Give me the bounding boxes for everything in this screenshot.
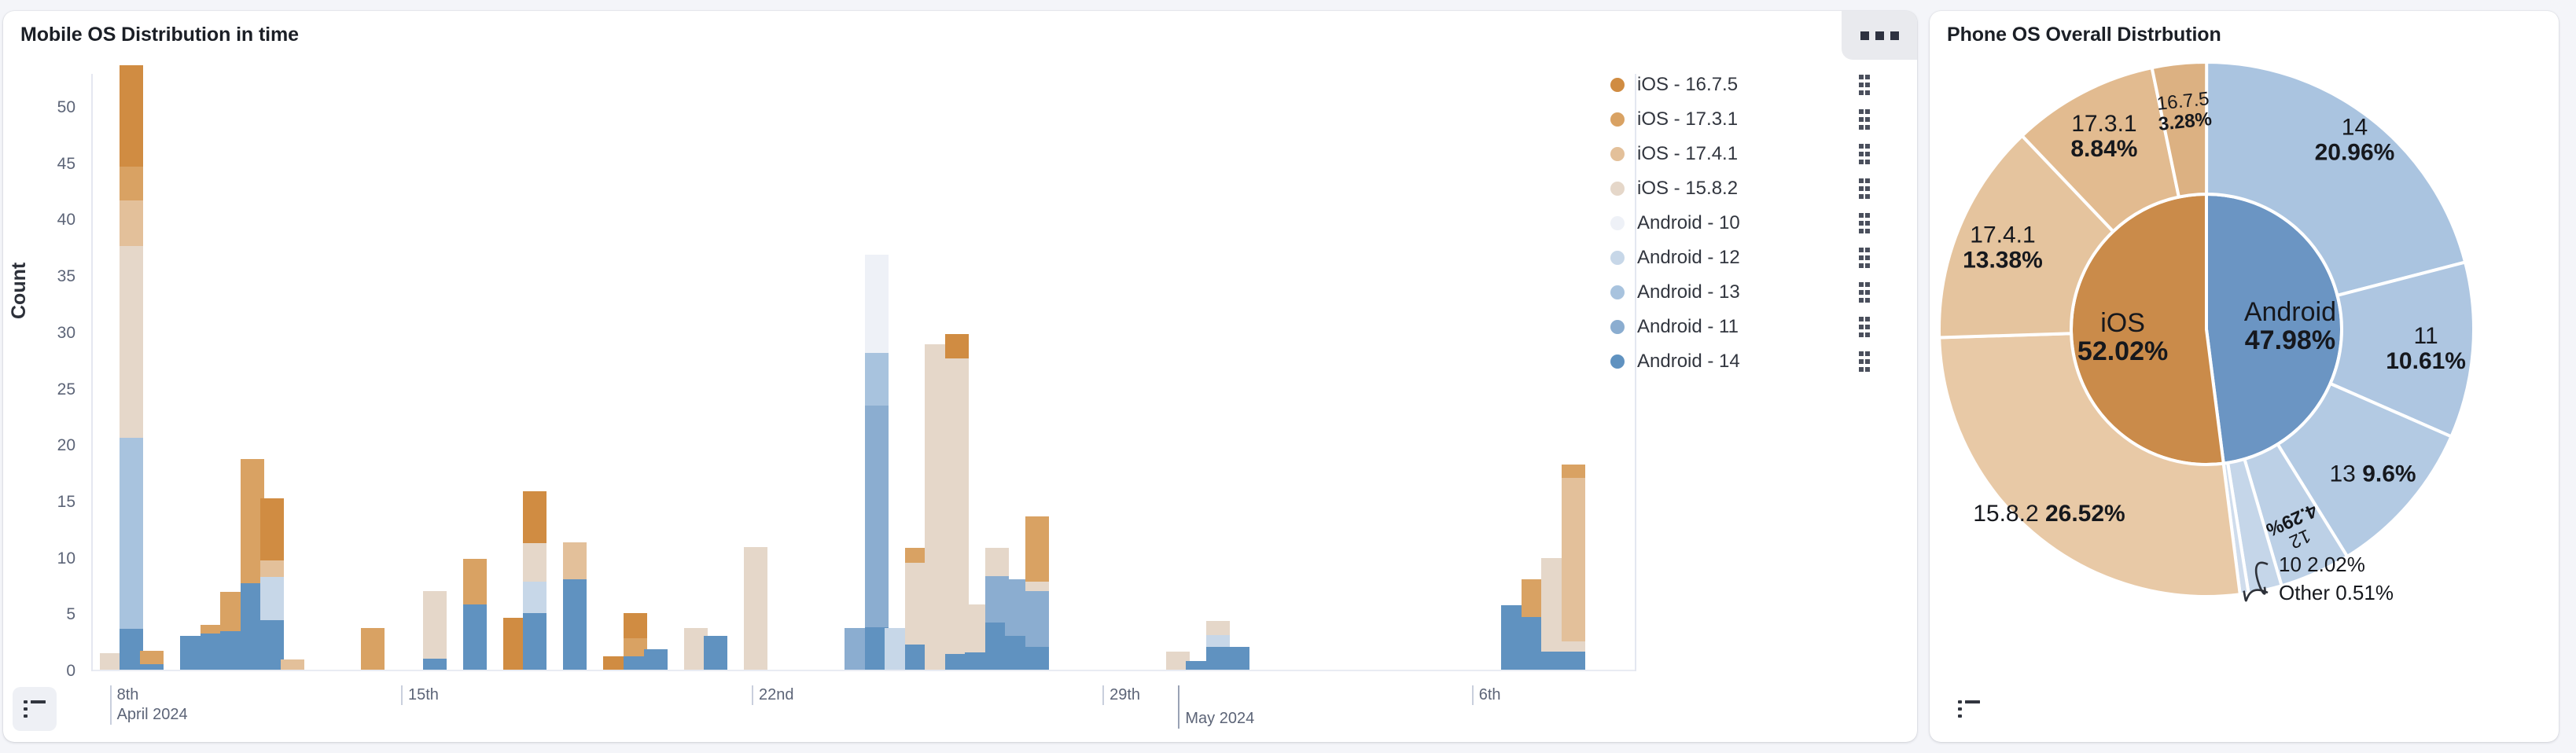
page-title: Mobile OS Distribution in time [20, 24, 299, 46]
legend-color-dot [1610, 285, 1625, 299]
bar-segment [1206, 621, 1230, 634]
x-axis-tick: 6th [1472, 685, 1501, 705]
drag-handle-icon[interactable] [1859, 175, 1870, 202]
plot-area [91, 74, 1636, 671]
y-axis-tick: 15 [27, 493, 75, 512]
y-axis-tick: 25 [27, 380, 75, 399]
bar-segment [120, 246, 143, 438]
bar-stack[interactable] [361, 628, 385, 670]
bar-segment [120, 438, 143, 630]
bar-stack[interactable] [463, 559, 487, 670]
drag-handle-icon[interactable] [1859, 244, 1870, 271]
sunburst-slice-label: 17.3.1 [2071, 111, 2136, 137]
legend-item-ios-17-3-1[interactable]: iOS - 17.3.1 [1610, 102, 1870, 137]
legend-color-dot [1610, 182, 1625, 196]
legend-color-dot [1610, 251, 1625, 265]
bar-segment [704, 636, 727, 670]
y-axis-tick: 50 [27, 98, 75, 117]
bar-stack[interactable] [865, 255, 889, 670]
bar-stack[interactable] [140, 651, 164, 670]
legend-list-icon[interactable] [13, 687, 57, 731]
panel-phone-os-overall: Phone OS Overall Distrbution Android47.9… [1930, 11, 2559, 742]
bar-stack[interactable] [523, 491, 546, 670]
legend-item-ios-17-4-1[interactable]: iOS - 17.4.1 [1610, 137, 1870, 171]
x-axis-tick: 29th [1102, 685, 1140, 705]
dashboard: Mobile OS Distribution in time Count 051… [0, 0, 2576, 753]
bar-segment [563, 542, 587, 579]
drag-handle-icon[interactable] [1859, 210, 1870, 237]
y-axis-tick: 30 [27, 324, 75, 343]
bar-segment [523, 543, 546, 582]
legend-color-dot [1610, 147, 1625, 161]
three-dots-icon[interactable] [1842, 11, 1917, 60]
x-axis-tick: May 2024 [1178, 685, 1254, 729]
bar-segment [260, 577, 284, 619]
x-axis-tick: 8thApril 2024 [110, 685, 188, 725]
bar-segment [463, 604, 487, 670]
y-axis-tick: 0 [27, 662, 75, 681]
legend-item-label: iOS - 15.8.2 [1637, 178, 1859, 200]
bar-segment [281, 659, 304, 670]
panel-mobile-os-distribution: Mobile OS Distribution in time Count 051… [3, 11, 1917, 742]
legend-item-ios-16-7-5[interactable]: iOS - 16.7.5 [1610, 68, 1870, 102]
legend-item-android-11[interactable]: Android - 11 [1610, 310, 1870, 344]
drag-handle-icon[interactable] [1859, 72, 1870, 98]
bar-stack[interactable] [563, 542, 587, 670]
legend-item-label: Android - 11 [1637, 316, 1859, 338]
legend-item-android-10[interactable]: Android - 10 [1610, 206, 1870, 241]
sunburst-slice-label: iOS [2100, 308, 2145, 338]
sunburst-slice-callout: 10 2.02% [2279, 553, 2365, 576]
bar-segment [945, 334, 969, 359]
y-axis-tick: 5 [27, 605, 75, 624]
bar-segment [523, 582, 546, 613]
bar-segment [865, 255, 889, 353]
drag-handle-icon[interactable] [1859, 348, 1870, 375]
bar-stack[interactable] [120, 65, 143, 670]
legend-color-dot [1610, 320, 1625, 334]
sunburst-slice-callout: Other 0.51% [2279, 581, 2394, 604]
bar-stack[interactable] [1562, 465, 1585, 670]
bar-segment [744, 547, 767, 670]
bar-segment [1025, 647, 1049, 670]
sunburst-slice-value: 8.84% [2070, 136, 2137, 162]
bar-segment [423, 659, 447, 670]
bar-segment [260, 560, 284, 578]
legend-item-label: iOS - 17.3.1 [1637, 108, 1859, 130]
sunburst-slice-label: 17.4.1 [1970, 222, 2035, 248]
bar-segment [865, 406, 889, 626]
bar-segment [1562, 478, 1585, 641]
bar-segment [120, 167, 143, 200]
legend-item-android-14[interactable]: Android - 14 [1610, 344, 1870, 379]
sunburst-slice-value: 52.02% [2077, 336, 2168, 366]
bar-stack[interactable] [644, 649, 668, 670]
x-axis-tick: 22nd [752, 685, 794, 705]
sunburst-slice-label: 11 [2414, 323, 2438, 349]
bar-segment [361, 628, 385, 670]
legend-item-label: Android - 14 [1637, 351, 1859, 373]
sunburst-slice-value: 10.61% [2386, 348, 2466, 374]
bar-segment [1025, 516, 1049, 582]
legend-item-label: Android - 13 [1637, 281, 1859, 303]
legend-item-label: Android - 10 [1637, 212, 1859, 234]
bar-segment [1025, 591, 1049, 648]
y-axis-tick: 45 [27, 155, 75, 174]
legend-list-icon[interactable] [1947, 687, 1991, 731]
legend-color-dot [1610, 78, 1625, 92]
sunburst-slice-label: 13 9.6% [2329, 461, 2416, 487]
bar-segment [1226, 647, 1249, 670]
drag-handle-icon[interactable] [1859, 314, 1870, 340]
bar-segment [140, 651, 164, 664]
bar-segment [624, 613, 647, 638]
legend-item-label: iOS - 17.4.1 [1637, 143, 1859, 165]
page-title: Phone OS Overall Distrbution [1947, 24, 2221, 46]
legend-color-dot [1610, 112, 1625, 127]
bar-segment [523, 491, 546, 543]
legend-item-android-12[interactable]: Android - 12 [1610, 241, 1870, 275]
bar-segment [120, 65, 143, 167]
legend-item-label: iOS - 16.7.5 [1637, 74, 1859, 96]
bar-segment [563, 579, 587, 670]
bar-segment [423, 591, 447, 659]
legend-color-dot [1610, 354, 1625, 369]
bar-segment [1025, 582, 1049, 590]
bar-segment [1206, 635, 1230, 648]
sunburst-slice-label: Android [2244, 297, 2336, 327]
chart-legend: iOS - 16.7.5iOS - 17.3.1iOS - 17.4.1iOS … [1610, 68, 1870, 379]
x-axis-tick: 15th [401, 685, 439, 705]
bar-stack[interactable] [744, 547, 767, 670]
sunburst-svg: Android47.98%iOS52.02%1420.96%1110.61%13… [1930, 50, 2559, 703]
bar-stack[interactable] [260, 498, 284, 670]
bar-segment [1562, 641, 1585, 652]
y-axis-tick: 40 [27, 211, 75, 230]
legend-item-ios-15-8-2[interactable]: iOS - 15.8.2 [1610, 171, 1870, 206]
bar-segment [1562, 652, 1585, 670]
sunburst-slice-label: 15.8.2 26.52% [1973, 501, 2125, 527]
sunburst-slice-value: 13.38% [1963, 248, 2043, 274]
bar-segment [140, 664, 164, 670]
sunburst-slice-label: 14 [2342, 114, 2368, 140]
bar-segment [644, 649, 668, 670]
legend-item-label: Android - 12 [1637, 247, 1859, 269]
bar-segment [260, 498, 284, 560]
drag-handle-icon[interactable] [1859, 279, 1870, 306]
bar-segment [523, 613, 546, 670]
drag-handle-icon[interactable] [1859, 106, 1870, 133]
drag-handle-icon[interactable] [1859, 141, 1870, 167]
bar-stack[interactable] [1025, 516, 1049, 670]
y-axis-tick: 10 [27, 549, 75, 568]
bar-segment [985, 548, 1009, 576]
legend-item-android-13[interactable]: Android - 13 [1610, 275, 1870, 310]
y-axis-tick: 20 [27, 436, 75, 455]
bar-stack[interactable] [1226, 647, 1249, 670]
bar-stack[interactable] [704, 636, 727, 670]
bar-stack[interactable] [423, 591, 447, 670]
sunburst-chart: Android47.98%iOS52.02%1420.96%1110.61%13… [1930, 50, 2559, 703]
bar-segment [865, 353, 889, 406]
x-axis-ticks: 8thApril 202415th22nd29thMay 20246th [91, 685, 1636, 740]
sunburst-slice-value: 47.98% [2245, 325, 2335, 355]
sunburst-slice-value: 20.96% [2315, 139, 2395, 165]
bar-segment [463, 559, 487, 604]
bar-segment [120, 200, 143, 245]
legend-color-dot [1610, 216, 1625, 230]
bar-stack[interactable] [281, 659, 304, 670]
x-axis-baseline [93, 670, 1636, 671]
bar-segment [1562, 465, 1585, 478]
y-axis-tick: 35 [27, 267, 75, 286]
y-axis-ticks: 05101520253035404550 [27, 60, 75, 657]
